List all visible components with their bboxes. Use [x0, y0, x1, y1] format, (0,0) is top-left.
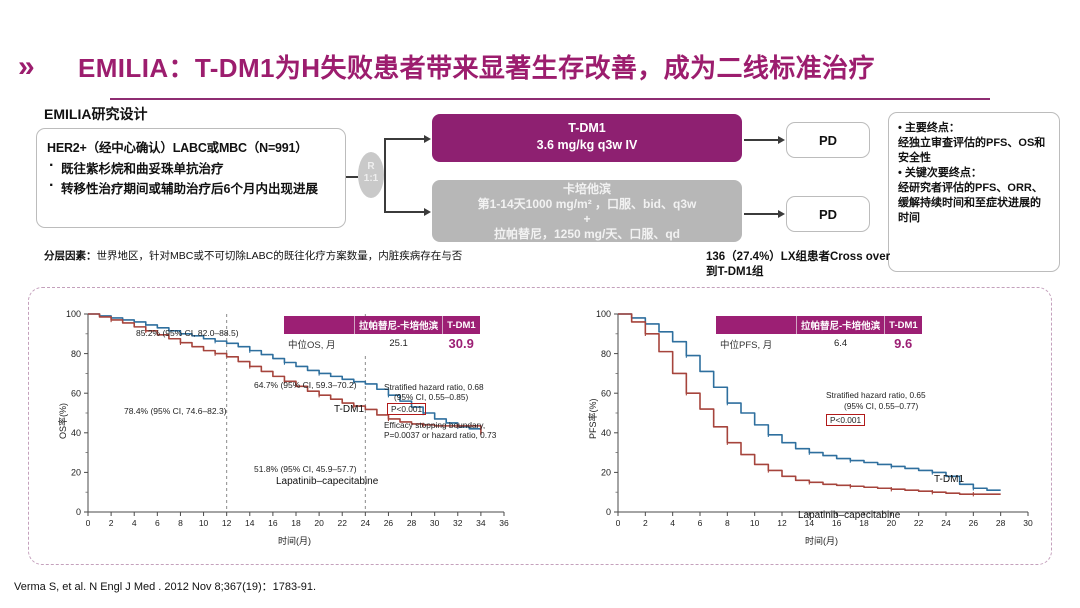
curve-label: Lapatinib–capecitabine: [276, 476, 378, 487]
table-cell: 25.1: [355, 334, 443, 353]
page-title: EMILIA：T-DM1为H失败患者带来显著生存改善，成为二线标准治疗: [78, 48, 875, 85]
table-cell: 6.4: [797, 334, 885, 353]
pd-label: PD: [787, 197, 869, 233]
progression-box-arm-b: PD: [786, 196, 870, 232]
os-summary-table: 拉帕替尼-卡培他滨T-DM1中位OS, 月25.130.9: [284, 316, 480, 353]
svg-text:60: 60: [71, 388, 81, 398]
arm-b-name: 卡培他滨: [432, 182, 742, 197]
population-bullet: 既往紫杉烷和曲妥珠单抗治疗: [47, 162, 335, 176]
svg-text:12: 12: [222, 518, 232, 528]
stratification-note: 分层因素：世界地区，针对MBC或不可切除LABC的既往化疗方案数量，内脏疾病存在…: [44, 248, 462, 263]
table-cell: 中位OS, 月: [284, 334, 355, 353]
arrow-head-icon: [778, 136, 785, 144]
os-x-axis-label: 时间(月): [278, 534, 311, 547]
primary-endpoint-heading: • 主要终点：: [898, 121, 1050, 136]
os-kaplan-meier-chart: 0204060801000246810121416182022242628303…: [46, 296, 516, 558]
randomization-node: R 1:1: [358, 152, 384, 198]
svg-text:30: 30: [430, 518, 440, 528]
svg-text:8: 8: [178, 518, 183, 528]
pfs-annotation: (95% CI, 0.55–0.77): [844, 401, 918, 412]
svg-text:32: 32: [453, 518, 463, 528]
svg-text:24: 24: [941, 518, 951, 528]
svg-text:60: 60: [601, 388, 611, 398]
svg-text:10: 10: [750, 518, 760, 528]
table-header-cell: 拉帕替尼-卡培他滨: [355, 316, 443, 334]
svg-text:28: 28: [996, 518, 1006, 528]
population-box: HER2+（经中心确认）LABC或MBC（N=991） 既往紫杉烷和曲妥珠单抗治…: [36, 128, 346, 228]
curve-label: T-DM1: [934, 474, 964, 485]
os-y-axis-label: OS率(%): [56, 403, 69, 439]
secondary-endpoint-body: 经研究者评估的PFS、ORR、缓解持续时间和至症状进展的时间: [898, 181, 1050, 226]
svg-text:10: 10: [199, 518, 209, 528]
pfs-x-axis-label: 时间(月): [805, 534, 838, 547]
arm-a-dose: 3.6 mg/kg q3w IV: [432, 137, 742, 154]
primary-endpoint-body: 经独立审查评估的PFS、OS和安全性: [898, 136, 1050, 166]
svg-text:22: 22: [914, 518, 924, 528]
stratification-text: 世界地区，针对MBC或不可切除LABC的既往化疗方案数量，内脏疾病存在与否: [97, 250, 463, 262]
svg-text:2: 2: [643, 518, 648, 528]
svg-text:26: 26: [969, 518, 979, 528]
arm-b-capecitabine-dose: 第1-14天1000 mg/m² ，口服、bid、q3w: [432, 197, 742, 212]
table-row: 中位OS, 月25.130.9: [284, 334, 480, 353]
secondary-endpoint-heading: • 关键次要终点：: [898, 166, 1050, 181]
os-rate-label: 64.7% (95% CI, 59.3–70.2): [254, 380, 357, 390]
svg-text:34: 34: [476, 518, 486, 528]
connector-line: [384, 176, 386, 212]
svg-text:0: 0: [76, 507, 81, 517]
arrow-head-icon: [424, 208, 431, 216]
svg-text:24: 24: [361, 518, 371, 528]
table-header-cell: [284, 316, 355, 334]
table-cell: 30.9: [443, 334, 480, 353]
treatment-arm-tdm1: T-DM1 3.6 mg/kg q3w IV: [432, 114, 742, 162]
svg-text:0: 0: [86, 518, 91, 528]
title-underline: [110, 98, 990, 100]
crossover-note: 136（27.4%）LX组患者Cross over到T-DM1组: [706, 250, 896, 280]
table-header-cell: T-DM1: [885, 316, 922, 334]
pfs-summary-table: 拉帕替尼-卡培他滨T-DM1中位PFS, 月6.49.6: [716, 316, 922, 353]
citation: Verma S, et al. N Engl J Med . 2012 Nov …: [14, 578, 316, 594]
svg-text:20: 20: [71, 468, 81, 478]
svg-text:14: 14: [245, 518, 255, 528]
randomization-r: R: [358, 161, 384, 173]
double-chevron-right-icon: »: [18, 52, 31, 82]
connector-line: [384, 138, 424, 140]
svg-text:30: 30: [1023, 518, 1033, 528]
connector-line: [744, 139, 778, 141]
svg-text:4: 4: [670, 518, 675, 528]
svg-text:100: 100: [66, 309, 81, 319]
os-annotation: (95% CI, 0.55–0.85): [394, 392, 468, 403]
pfs-p-value-box: P<0.001: [826, 414, 865, 426]
connector-line: [384, 138, 386, 176]
svg-text:16: 16: [268, 518, 278, 528]
arrow-head-icon: [424, 135, 431, 143]
arm-b-lapatinib-dose: 拉帕替尼，1250 mg/天、口服、qd: [432, 227, 742, 242]
curve-label: T-DM1: [334, 404, 364, 415]
svg-text:80: 80: [601, 349, 611, 359]
os-annotation: P=0.0037 or hazard ratio, 0.73: [384, 430, 496, 441]
arrow-head-icon: [778, 210, 785, 218]
svg-text:18: 18: [291, 518, 301, 528]
svg-text:36: 36: [499, 518, 509, 528]
connector-line: [346, 176, 358, 178]
population-heading: HER2+（经中心确认）LABC或MBC（N=991）: [47, 137, 335, 156]
endpoints-box: • 主要终点： 经独立审查评估的PFS、OS和安全性 • 关键次要终点： 经研究…: [888, 112, 1060, 272]
treatment-arm-lapatinib-capecitabine: 卡培他滨 第1-14天1000 mg/m² ，口服、bid、q3w + 拉帕替尼…: [432, 180, 742, 242]
svg-text:2: 2: [109, 518, 114, 528]
pd-label: PD: [787, 123, 869, 159]
table-row: 中位PFS, 月6.49.6: [716, 334, 922, 353]
svg-text:22: 22: [337, 518, 347, 528]
slide-header: » EMILIA：T-DM1为H失败患者带来显著生存改善，成为二线标准治疗: [0, 22, 1080, 82]
arm-b-plus: +: [432, 212, 742, 227]
svg-text:6: 6: [155, 518, 160, 528]
progression-box-arm-a: PD: [786, 122, 870, 158]
connector-line: [744, 213, 778, 215]
table-header-cell: 拉帕替尼-卡培他滨: [797, 316, 885, 334]
svg-text:8: 8: [725, 518, 730, 528]
os-rate-label: 85.2% (95% CI, 82.0–88.5): [136, 328, 239, 338]
os-rate-label: 51.8% (95% CI, 45.9–57.7): [254, 464, 357, 474]
svg-text:12: 12: [777, 518, 787, 528]
table-header-cell: [716, 316, 797, 334]
curve-label: Lapatinib–capecitabine: [798, 510, 900, 521]
svg-text:40: 40: [601, 428, 611, 438]
study-design-heading: EMILIA研究设计: [44, 104, 147, 124]
svg-text:0: 0: [616, 518, 621, 528]
pfs-y-axis-label: PFS率(%): [586, 398, 599, 439]
svg-text:20: 20: [314, 518, 324, 528]
table-header-cell: T-DM1: [443, 316, 480, 334]
svg-text:6: 6: [698, 518, 703, 528]
randomization-ratio: 1:1: [358, 173, 384, 185]
stratification-label: 分层因素：: [44, 250, 97, 262]
os-p-value-box: P<0.001: [387, 403, 426, 415]
svg-text:0: 0: [606, 507, 611, 517]
svg-text:80: 80: [71, 349, 81, 359]
table-cell: 9.6: [885, 334, 922, 353]
os-rate-label: 78.4% (95% CI, 74.6–82.3): [124, 406, 227, 416]
svg-text:4: 4: [132, 518, 137, 528]
svg-text:20: 20: [601, 468, 611, 478]
pfs-kaplan-meier-chart: 020406080100024681012141618202224262830时…: [576, 296, 1046, 558]
svg-text:100: 100: [596, 309, 611, 319]
arm-a-name: T-DM1: [432, 120, 742, 137]
svg-text:26: 26: [384, 518, 394, 528]
connector-line: [384, 211, 424, 213]
population-bullet: 转移性治疗期间或辅助治疗后6个月内出现进展: [47, 182, 335, 196]
pfs-annotation: Stratified hazard ratio, 0.65: [826, 390, 926, 401]
svg-text:40: 40: [71, 428, 81, 438]
table-cell: 中位PFS, 月: [716, 334, 797, 353]
svg-text:28: 28: [407, 518, 417, 528]
